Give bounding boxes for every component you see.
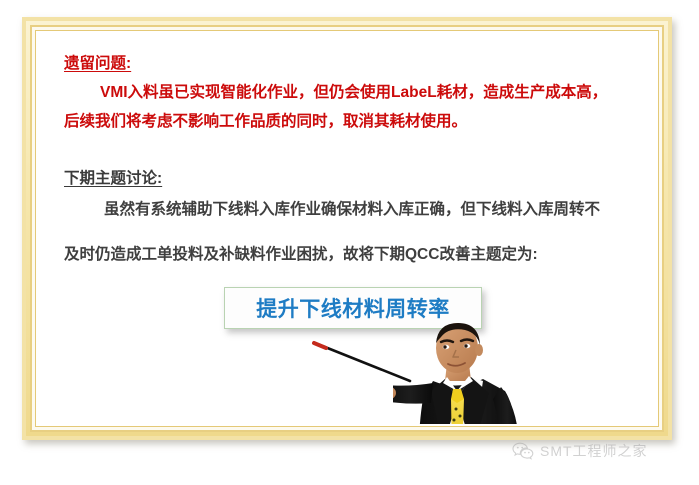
legacy-issue-title: 遗留问题: <box>64 56 131 72</box>
watermark: SMT工程师之家 <box>512 441 648 461</box>
theme-callout-label: 提升下线材料周转率 <box>256 293 450 323</box>
legacy-issue-line-2: 后续我们将考虑不影响工作品质的同时，取消其耗材使用。 <box>64 114 467 130</box>
frame-mid-band: 遗留问题: VMI入料虽已实现智能化作业，但仍会使用LabeL耗材，造成生产成本… <box>30 25 664 432</box>
presenter-photo <box>393 321 543 424</box>
next-topic-line-2: 及时仍造成工单投料及补缺料作业困扰，故将下期QCC改善主题定为: <box>64 247 538 263</box>
next-topic-line-1: 虽然有系统辅助下线料入库作业确保材料入库正确，但下线料入库周转不 <box>104 202 600 218</box>
decorative-gold-frame: 遗留问题: VMI入料虽已实现智能化作业，但仍会使用LabeL耗材，造成生产成本… <box>22 17 672 440</box>
wechat-icon <box>512 442 534 460</box>
legacy-issue-line-1: VMI入料虽已实现智能化作业，但仍会使用LabeL耗材，造成生产成本高， <box>100 85 607 101</box>
slide-content-area: 遗留问题: VMI入料虽已实现智能化作业，但仍会使用LabeL耗材，造成生产成本… <box>38 33 656 424</box>
frame-inner-line: 遗留问题: VMI入料虽已实现智能化作业，但仍会使用LabeL耗材，造成生产成本… <box>35 30 659 427</box>
watermark-label: SMT工程师之家 <box>540 441 648 461</box>
next-topic-title: 下期主题讨论: <box>64 171 162 187</box>
slide-canvas: 遗留问题: VMI入料虽已实现智能化作业，但仍会使用LabeL耗材，造成生产成本… <box>0 0 699 485</box>
